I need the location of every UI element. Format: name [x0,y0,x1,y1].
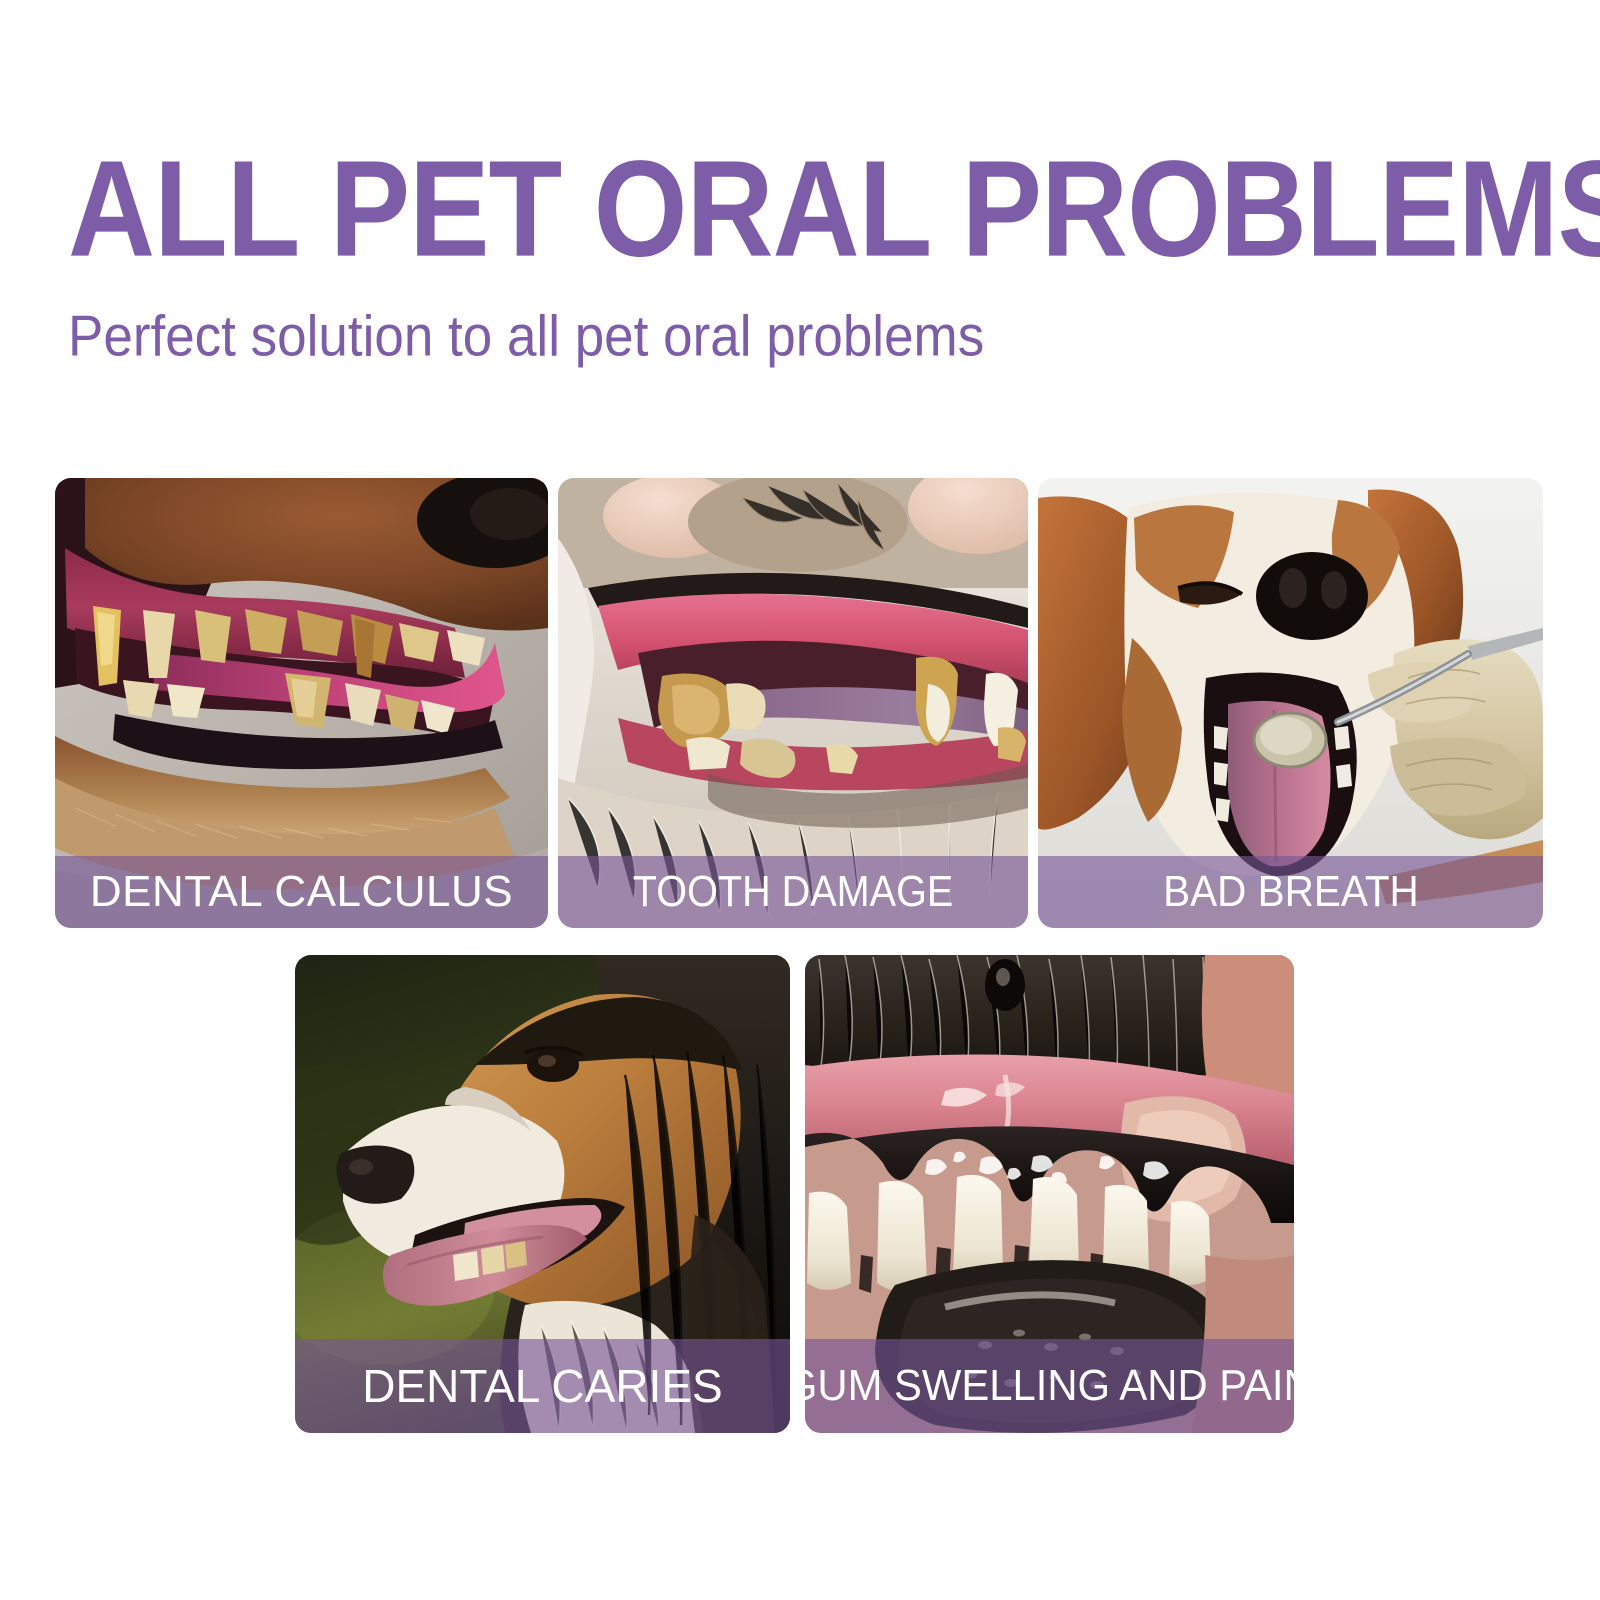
card-label: TOOTH DAMAGE [633,870,953,914]
problem-card-bad-breath[interactable]: BAD BREATH [1038,478,1543,928]
card-label: DENTAL CARIES [362,1363,722,1409]
card-label-bar: TOOTH DAMAGE [558,856,1028,928]
problem-card-tooth-damage[interactable]: TOOTH DAMAGE [558,478,1028,928]
header: ALL PET ORAL PROBLEMS Perfect solution t… [68,140,1538,361]
problem-card-dental-caries[interactable]: DENTAL CARIES [295,955,790,1433]
card-label: BAD BREATH [1163,870,1419,914]
problem-card-gum-swelling[interactable]: GUM SWELLING AND PAIN [805,955,1294,1433]
card-label-bar: BAD BREATH [1038,856,1543,928]
problem-card-dental-calculus[interactable]: DENTAL CALCULUS [55,478,548,928]
promo-page: ALL PET ORAL PROBLEMS Perfect solution t… [0,0,1600,1600]
page-subtitle: Perfect solution to all pet oral problem… [68,308,1538,365]
card-label-bar: DENTAL CARIES [295,1339,790,1433]
card-label: DENTAL CALCULUS [90,870,513,914]
page-title: ALL PET ORAL PROBLEMS [68,140,1597,277]
card-label: GUM SWELLING AND PAIN [805,1364,1294,1408]
card-label-bar: DENTAL CALCULUS [55,856,548,928]
card-label-bar: GUM SWELLING AND PAIN [805,1339,1294,1433]
